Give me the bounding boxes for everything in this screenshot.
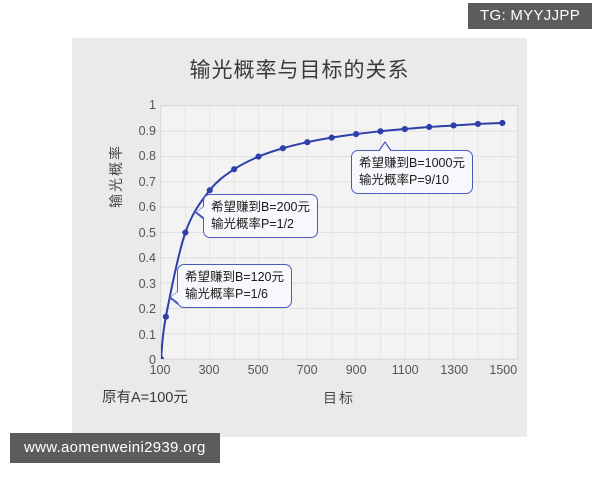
data-point-marker bbox=[280, 145, 286, 151]
annotation-callout-b200: 希望赚到B=200元 输光概率P=1/2 bbox=[203, 194, 318, 238]
data-point-marker bbox=[255, 154, 261, 160]
origin-note: 原有A=100元 bbox=[102, 386, 188, 407]
callout-tail-fill-icon bbox=[171, 291, 179, 303]
y-axis-tick-label: 0.4 bbox=[116, 251, 156, 265]
callout-line-2: 输光概率P=1/2 bbox=[211, 216, 310, 233]
y-axis-tick-label: 0.2 bbox=[116, 302, 156, 316]
callout-tail-fill-icon bbox=[379, 143, 391, 152]
callout-line-1: 希望赚到B=120元 bbox=[185, 269, 284, 286]
site-watermark-badge: www.aomenweini2939.org bbox=[10, 433, 220, 463]
data-point-marker bbox=[182, 229, 188, 235]
chart-card: 输光概率与目标的关系 输光概率 00.10.20.30.40.50.60.70.… bbox=[72, 38, 527, 437]
callout-line-1: 希望赚到B=1000元 bbox=[359, 155, 465, 172]
data-point-marker bbox=[475, 121, 481, 127]
annotation-callout-b120: 希望赚到B=120元 输光概率P=1/6 bbox=[177, 264, 292, 308]
data-point-marker bbox=[207, 187, 213, 193]
tg-watermark-badge: TG: MYYJJPP bbox=[468, 3, 592, 29]
y-axis-tick-label: 0.9 bbox=[116, 124, 156, 138]
y-axis-tick-label: 0.5 bbox=[116, 226, 156, 240]
data-point-marker bbox=[161, 356, 164, 359]
data-point-marker bbox=[163, 314, 169, 320]
x-axis-tick-label: 1500 bbox=[473, 363, 533, 377]
data-point-marker bbox=[353, 131, 359, 137]
annotation-callout-b1000: 希望赚到B=1000元 输光概率P=9/10 bbox=[351, 150, 473, 194]
y-axis-tick-labels: 00.10.20.30.40.50.60.70.80.91 bbox=[110, 105, 156, 360]
data-point-marker bbox=[451, 122, 457, 128]
data-point-marker bbox=[231, 166, 237, 172]
callout-line-2: 输光概率P=1/6 bbox=[185, 286, 284, 303]
data-point-marker bbox=[304, 139, 310, 145]
callout-tail-fill-icon bbox=[197, 206, 205, 218]
y-axis-tick-label: 1 bbox=[116, 98, 156, 112]
callout-line-1: 希望赚到B=200元 bbox=[211, 199, 310, 216]
y-axis-tick-label: 0.7 bbox=[116, 175, 156, 189]
y-axis-tick-label: 0.3 bbox=[116, 277, 156, 291]
callout-line-2: 输光概率P=9/10 bbox=[359, 172, 465, 189]
x-axis-tick-labels: 100300500700900110013001500 bbox=[160, 363, 518, 383]
data-point-marker bbox=[402, 126, 408, 132]
y-axis-tick-label: 0.1 bbox=[116, 328, 156, 342]
data-point-marker bbox=[426, 124, 432, 130]
data-point-marker bbox=[499, 120, 505, 126]
y-axis-tick-label: 0.6 bbox=[116, 200, 156, 214]
data-point-marker bbox=[377, 128, 383, 134]
y-axis-tick-label: 0.8 bbox=[116, 149, 156, 163]
x-axis-title: 目标 bbox=[160, 388, 518, 408]
data-point-marker bbox=[329, 135, 335, 141]
chart-title: 输光概率与目标的关系 bbox=[72, 54, 527, 84]
